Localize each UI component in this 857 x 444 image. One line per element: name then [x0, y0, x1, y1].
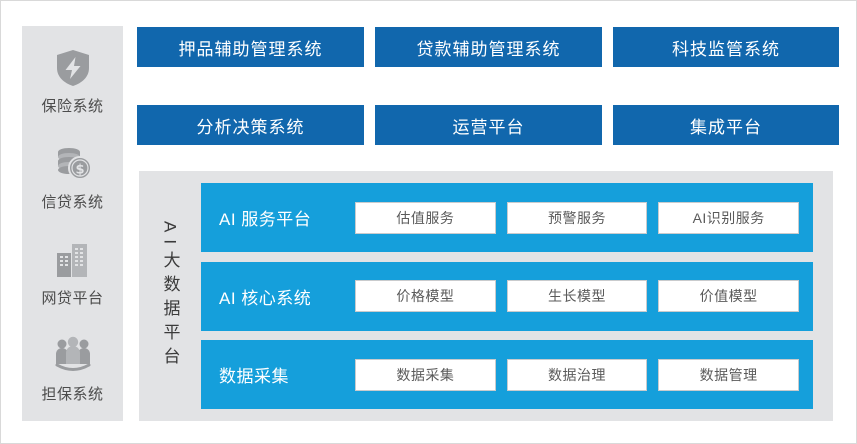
ai-big-data-platform-panel: AI大数据平台 AI 服务平台 估值服务 预警服务 AI识别服务 AI 核心系统…	[139, 171, 833, 421]
platform-vertical-label: AI大数据平台	[139, 183, 201, 409]
card-price-model[interactable]: 价格模型	[355, 280, 496, 312]
button-integration-platform[interactable]: 集成平台	[613, 105, 839, 145]
diagram-frame: 保险系统 $ 信贷系统	[0, 0, 857, 444]
coins-dollar-icon: $	[50, 141, 96, 187]
platform-row-data-collection: 数据采集 数据采集 数据治理 数据管理	[201, 340, 813, 409]
button-analysis-decision[interactable]: 分析决策系统	[137, 105, 364, 145]
card-warning-service[interactable]: 预警服务	[507, 202, 648, 234]
platform-row-ai-service: AI 服务平台 估值服务 预警服务 AI识别服务	[201, 183, 813, 252]
card-value-model[interactable]: 价值模型	[658, 280, 799, 312]
top-button-row-1: 押品辅助管理系统 贷款辅助管理系统 科技监管系统	[137, 27, 839, 67]
sidebar-item-label: 信贷系统	[41, 191, 103, 212]
card-data-management[interactable]: 数据管理	[658, 359, 799, 391]
people-group-icon	[50, 333, 96, 379]
buildings-icon	[50, 237, 96, 283]
svg-text:$: $	[75, 162, 84, 177]
row-cards: 价格模型 生长模型 价值模型	[355, 280, 799, 312]
button-loan-management[interactable]: 贷款辅助管理系统	[375, 27, 602, 67]
card-data-governance[interactable]: 数据治理	[507, 359, 648, 391]
button-pledge-management[interactable]: 押品辅助管理系统	[137, 27, 364, 67]
sidebar-item-credit[interactable]: $ 信贷系统	[22, 141, 123, 212]
top-button-row-2: 分析决策系统 运营平台 集成平台	[137, 105, 839, 145]
row-cards: 估值服务 预警服务 AI识别服务	[355, 202, 799, 234]
card-growth-model[interactable]: 生长模型	[507, 280, 648, 312]
sidebar-item-label: 担保系统	[41, 383, 103, 404]
sidebar-item-insurance[interactable]: 保险系统	[22, 45, 123, 116]
sidebar-item-guarantee[interactable]: 担保系统	[22, 333, 123, 404]
card-valuation-service[interactable]: 估值服务	[355, 202, 496, 234]
row-cards: 数据采集 数据治理 数据管理	[355, 359, 799, 391]
platform-rows: AI 服务平台 估值服务 预警服务 AI识别服务 AI 核心系统 价格模型 生长…	[201, 183, 813, 409]
button-operation-platform[interactable]: 运营平台	[375, 105, 602, 145]
sidebar-item-label: 网贷平台	[41, 287, 103, 308]
row-title: AI 服务平台	[219, 205, 355, 230]
platform-row-ai-core: AI 核心系统 价格模型 生长模型 价值模型	[201, 262, 813, 331]
sidebar-item-label: 保险系统	[41, 95, 103, 116]
platform-vertical-label-cjk: 大数据平台	[161, 251, 180, 371]
sidebar-item-online-lending[interactable]: 网贷平台	[22, 237, 123, 308]
sidebar: 保险系统 $ 信贷系统	[22, 26, 123, 421]
card-data-collection[interactable]: 数据采集	[355, 359, 496, 391]
card-ai-recognition-service[interactable]: AI识别服务	[658, 202, 799, 234]
row-title: 数据采集	[219, 362, 355, 387]
platform-vertical-label-latin: AI	[161, 221, 180, 251]
shield-bolt-icon	[50, 45, 96, 91]
button-tech-supervision[interactable]: 科技监管系统	[613, 27, 839, 67]
row-title: AI 核心系统	[219, 284, 355, 309]
